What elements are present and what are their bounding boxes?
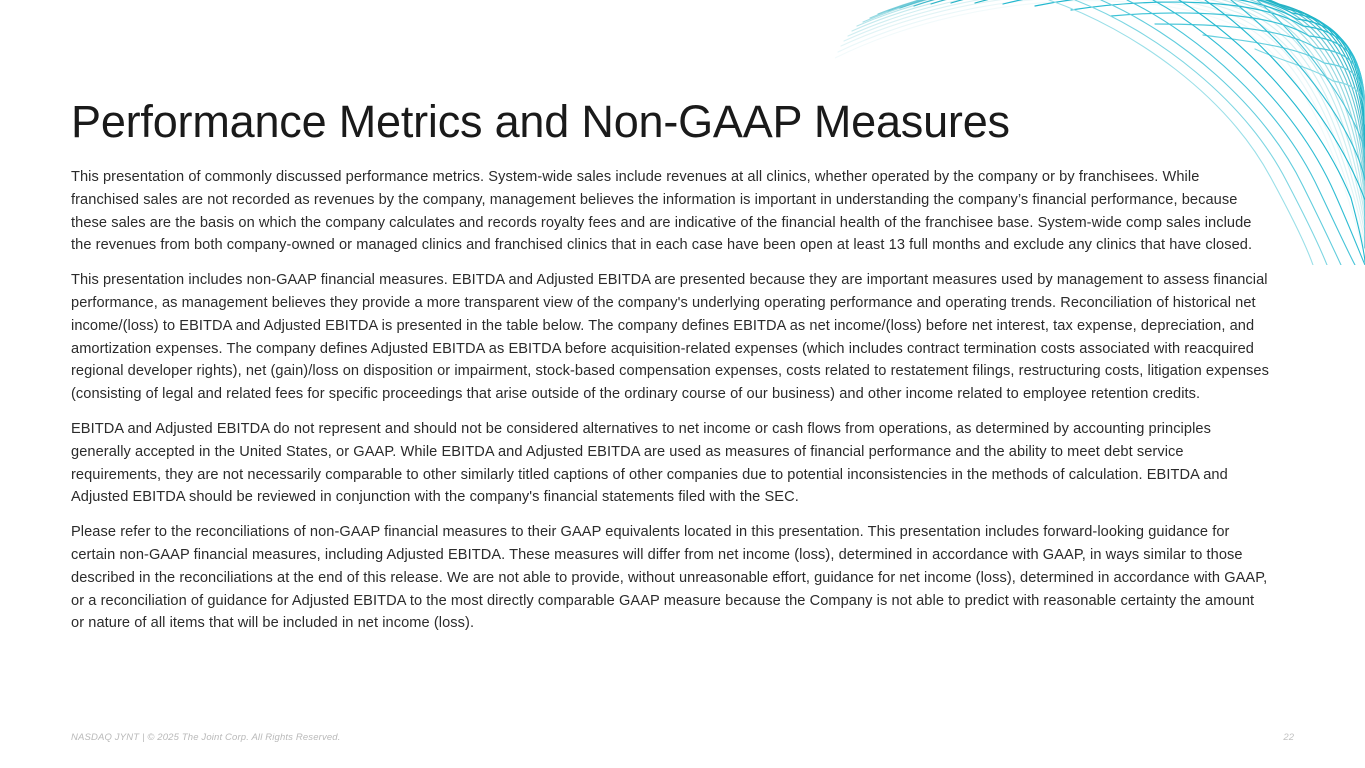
paragraph-non-gaap-measures: This presentation includes non-GAAP fina… [71, 269, 1269, 406]
body-content: This presentation of commonly discussed … [71, 166, 1269, 635]
page-title: Performance Metrics and Non-GAAP Measure… [71, 96, 1010, 148]
slide-canvas: Performance Metrics and Non-GAAP Measure… [0, 0, 1365, 768]
slide-footer: NASDAQ JYNT | © 2025 The Joint Corp. All… [71, 732, 1294, 748]
footer-page-number: 22 [1283, 732, 1294, 743]
paragraph-ebitda-limitations: EBITDA and Adjusted EBITDA do not repres… [71, 418, 1269, 509]
footer-attribution: NASDAQ JYNT | © 2025 The Joint Corp. All… [71, 732, 341, 743]
paragraph-performance-metrics: This presentation of commonly discussed … [71, 166, 1269, 257]
paragraph-forward-looking-guidance: Please refer to the reconciliations of n… [71, 521, 1269, 635]
